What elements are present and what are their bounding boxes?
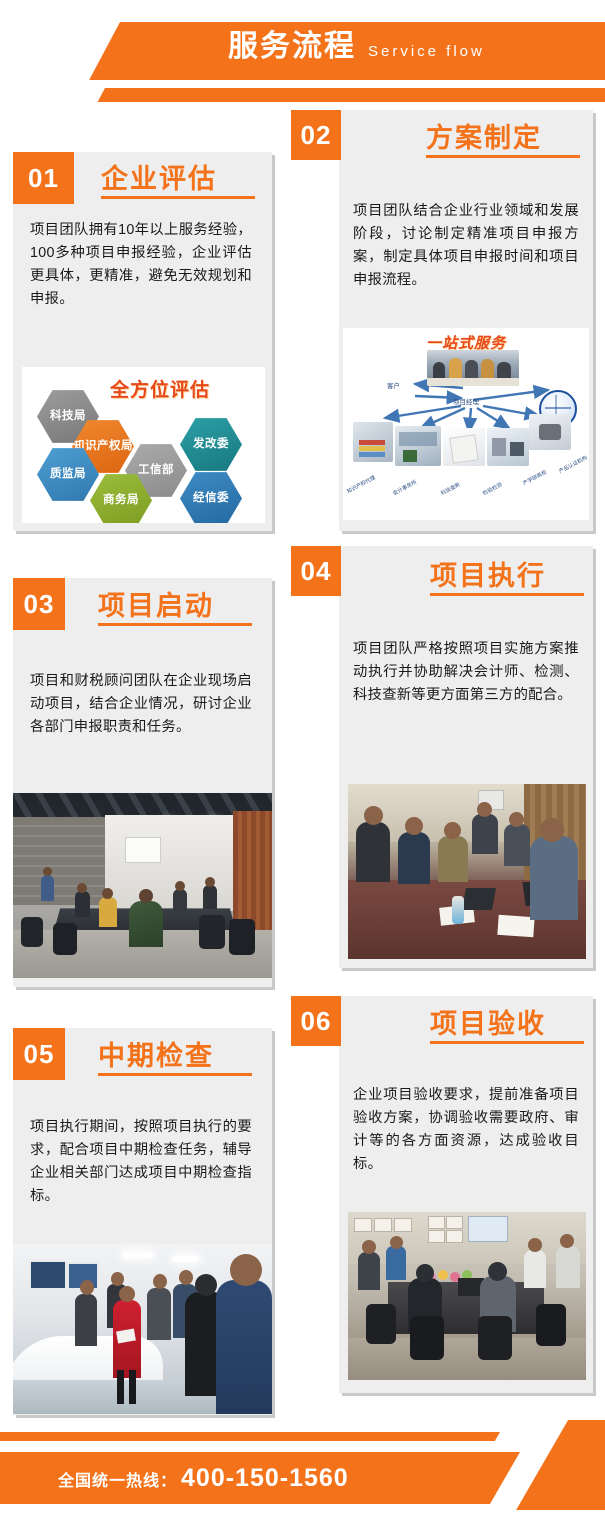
title-underline (98, 1073, 252, 1076)
card-title: 中期检查 (98, 1034, 214, 1073)
card-title: 项目启动 (98, 584, 214, 623)
step-number-badge: 06 (291, 996, 341, 1046)
card-photo-04 (348, 784, 586, 959)
page-subtitle: Service flow (368, 44, 485, 59)
step-number-badge: 02 (291, 110, 341, 160)
hexagon-node-fagaiwei: 发改委 (180, 417, 242, 472)
service-thumb-2 (395, 426, 441, 466)
title-underline (430, 593, 584, 596)
service-node-manager: 项目经理 (453, 396, 479, 406)
step-card-03[interactable]: 03 项目启动 项目和财税顾问团队在企业现场启动项目，结合企业情况，研讨企业各部… (13, 578, 275, 990)
card-photo-03 (13, 793, 272, 978)
title-underline (426, 155, 580, 158)
service-thumb-4 (487, 428, 529, 466)
card-description: 企业项目验收要求，提前准备项目验收方案，协调验收需要政府、审计等的各方面资源，达… (353, 1084, 579, 1177)
card-title: 项目执行 (430, 554, 546, 593)
hexagon-node-jingxinwei: 经信委 (180, 471, 242, 523)
card-title: 项目验收 (430, 1002, 546, 1041)
hexagon-diagram-title: 全方位评估 (110, 375, 210, 402)
service-thumb-3 (443, 428, 485, 466)
service-thumb-5 (529, 414, 571, 450)
page-header: 服务流程 Service flow (0, 0, 605, 112)
service-diagram-top-photo (427, 350, 519, 386)
step-number-badge: 05 (13, 1028, 65, 1080)
footer-hotline-group: 全国统一热线： 400-150-1560 (58, 1464, 349, 1493)
step-number-badge: 03 (13, 578, 65, 630)
step-card-02[interactable]: 02 方案制定 项目团队结合企业行业领域和发展阶段，讨论制定精准项目申报方案，制… (291, 110, 596, 534)
card-photo-06 (348, 1212, 586, 1380)
footer-stripe (0, 1432, 460, 1441)
page-footer: 全国统一热线： 400-150-1560 (0, 1420, 605, 1538)
card-description: 项目团队严格按照项目实施方案推动执行并协助解决会计师、检测、科技查新等更方面第三… (353, 638, 579, 707)
hotline-number: 400-150-1560 (181, 1464, 349, 1493)
card-description: 项目团队拥有10年以上服务经验，100多种项目申报经验，企业评估更具体，更精准，… (30, 219, 252, 312)
hotline-label: 全国统一热线： (58, 1467, 177, 1491)
step-card-06[interactable]: 06 项目验收 企业项目验收要求，提前准备项目验收方案，协调验收需要政府、审计等… (291, 996, 596, 1396)
step-number-badge: 01 (13, 152, 74, 204)
title-underline (101, 196, 255, 199)
service-flow-infographic: 服务流程 Service flow 01 企业评估 项目团队拥有10年以上服务经… (0, 0, 605, 1538)
page-title: 服务流程 (228, 32, 356, 62)
header-title-group: 服务流程 Service flow (228, 32, 485, 62)
card-description: 项目执行期间，按照项目执行的要求，配合项目中期检查任务，辅导企业相关部门达成项目… (30, 1116, 252, 1209)
step-card-05[interactable]: 05 中期检查 项目执行期间，按照项目执行的要求，配合项目中期检查任务，辅导企业… (13, 1028, 275, 1418)
card-photo-05 (13, 1244, 272, 1414)
header-band-secondary (98, 88, 605, 102)
title-underline (430, 1041, 584, 1044)
one-stop-service-diagram: 一站式服务 (343, 328, 589, 520)
card-description: 项目团队结合企业行业领域和发展阶段，讨论制定精准项目申报方案，制定具体项目申报时… (353, 200, 579, 293)
footer-diagonal-accent (516, 1420, 605, 1510)
step-card-01[interactable]: 01 企业评估 项目团队拥有10年以上服务经验，100多种项目申报经验，企业评估… (13, 152, 275, 534)
service-thumb-1 (353, 422, 393, 462)
card-description: 项目和财税顾问团队在企业现场启动项目，结合企业情况，研讨企业各部门申报职责和任务… (30, 670, 252, 739)
service-node-customer: 客户 (387, 380, 400, 390)
title-underline (98, 623, 252, 626)
card-title: 企业评估 (101, 157, 217, 196)
assessment-hexagon-diagram: 全方位评估 科技局 知识产权局 质监局 工信部 商务局 发改委 经信委 (22, 367, 265, 523)
step-number-badge: 04 (291, 546, 341, 596)
card-title: 方案制定 (426, 116, 542, 155)
step-card-04[interactable]: 04 项目执行 项目团队严格按照项目实施方案推动执行并协助解决会计师、检测、科技… (291, 546, 596, 971)
